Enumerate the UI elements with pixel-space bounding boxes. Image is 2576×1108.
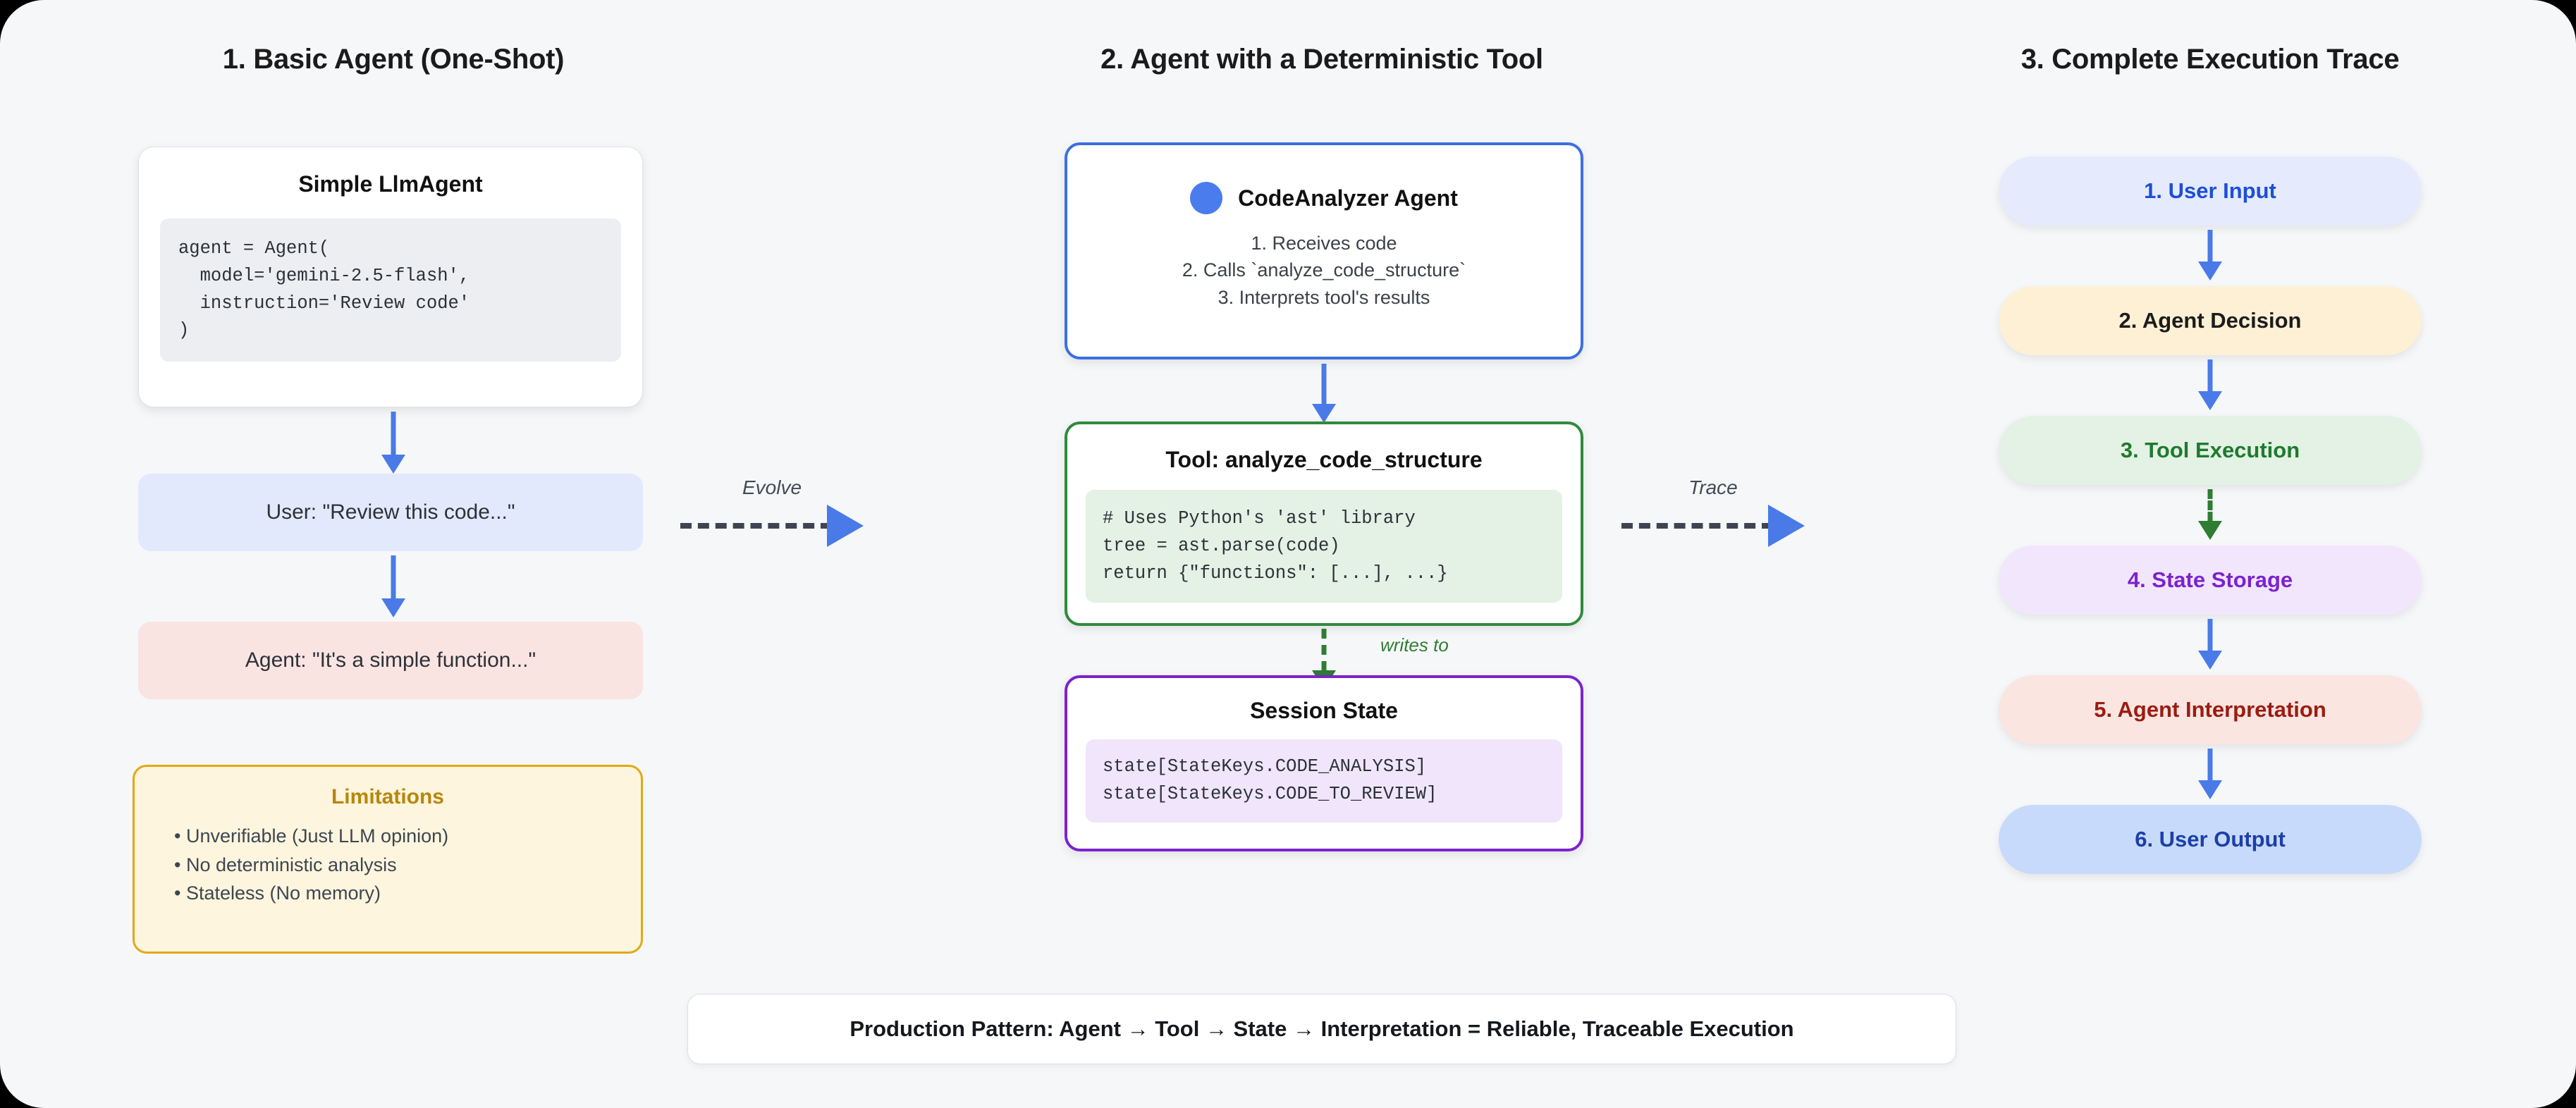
trace-step-5: 5. Agent Interpretation xyxy=(1999,675,2422,744)
agent-message-text: Agent: "It's a simple function..." xyxy=(245,648,536,672)
arrow-head xyxy=(381,455,405,474)
list-item: 2. Calls `analyze_code_structure` xyxy=(1067,257,1581,283)
arrow-shaft xyxy=(2208,230,2213,262)
arrow-agent-to-tool xyxy=(1310,364,1338,423)
session-state-code: state[StateKeys.CODE_ANALYSIS] state[Sta… xyxy=(1086,739,1562,823)
trace-step-6: 6. User Output xyxy=(1999,805,2422,874)
trace-step-2: 2. Agent Decision xyxy=(1999,286,2422,355)
writes-to-label: writes to xyxy=(1380,634,1449,656)
arrow-head xyxy=(2198,391,2222,410)
arrow-step4-to-step5 xyxy=(2196,619,2224,670)
tool-code: # Uses Python's 'ast' library tree = ast… xyxy=(1086,490,1562,603)
tool-card: Tool: analyze_code_structure # Uses Pyth… xyxy=(1065,421,1583,626)
arrow-head xyxy=(2198,651,2222,670)
arrow-head xyxy=(1768,505,1805,547)
arrow-shaft xyxy=(1621,523,1773,529)
limitations-box: Limitations • Unverifiable (Just LLM opi… xyxy=(133,765,643,954)
production-pattern-text: Production Pattern: Agent → Tool → State… xyxy=(850,1016,1793,1042)
arrow-step3-to-step4 xyxy=(2196,489,2224,540)
arrow-head xyxy=(2198,780,2222,799)
arrow-shaft xyxy=(680,523,832,529)
trace-step-label: 5. Agent Interpretation xyxy=(2094,697,2326,722)
evolve-label: Evolve xyxy=(680,476,864,499)
column-2-title: 2. Agent with a Deterministic Tool xyxy=(1043,44,1600,75)
codeanalyzer-agent-card: CodeAnalyzer Agent 1. Receives code 2. C… xyxy=(1065,142,1583,359)
list-item: 1. Receives code xyxy=(1067,230,1581,257)
column-3-title: 3. Complete Execution Trace xyxy=(1967,44,2453,75)
trace-step-1: 1. User Input xyxy=(1999,156,2422,226)
arrow-agent-to-user xyxy=(379,412,407,474)
codeanalyzer-header: CodeAnalyzer Agent xyxy=(1067,182,1581,214)
simple-llmagent-code: agent = Agent( model='gemini-2.5-flash',… xyxy=(160,218,621,362)
user-message-box: User: "Review this code..." xyxy=(138,474,643,551)
tool-title: Tool: analyze_code_structure xyxy=(1067,447,1581,473)
trace-step-3: 3. Tool Execution xyxy=(1999,416,2422,485)
arrow-shaft xyxy=(391,555,396,599)
arrow-shaft xyxy=(2208,489,2213,522)
user-message-text: User: "Review this code..." xyxy=(266,500,515,524)
arrow-head xyxy=(827,505,864,547)
arrow-user-to-agent xyxy=(379,555,407,617)
limitations-title: Limitations xyxy=(135,785,641,809)
agent-dot-icon xyxy=(1190,182,1222,214)
arrow-step5-to-step6 xyxy=(2196,749,2224,799)
production-pattern-banner: Production Pattern: Agent → Tool → State… xyxy=(687,994,1956,1064)
trace-connector: Trace xyxy=(1621,505,1805,547)
agent-message-box: Agent: "It's a simple function..." xyxy=(138,622,643,699)
arrow-head xyxy=(2198,521,2222,540)
arrow-head xyxy=(381,598,405,617)
arrow-head xyxy=(1312,404,1336,423)
arrow-shaft xyxy=(2208,749,2213,781)
trace-step-label: 2. Agent Decision xyxy=(2119,308,2302,333)
arrow-shaft xyxy=(1322,629,1327,671)
trace-step-label: 6. User Output xyxy=(2135,827,2286,852)
list-item: • Unverifiable (Just LLM opinion) xyxy=(174,822,641,851)
trace-step-label: 3. Tool Execution xyxy=(2121,438,2300,463)
trace-step-4: 4. State Storage xyxy=(1999,546,2422,615)
diagram-canvas: 1. Basic Agent (One-Shot) Simple LlmAgen… xyxy=(0,0,2576,1108)
column-1-title: 1. Basic Agent (One-Shot) xyxy=(138,44,649,75)
trace-step-label: 4. State Storage xyxy=(2128,567,2293,593)
arrow-shaft xyxy=(2208,359,2213,392)
session-state-title: Session State xyxy=(1067,698,1581,724)
arrow-step1-to-step2 xyxy=(2196,230,2224,281)
arrow-step2-to-step3 xyxy=(2196,359,2224,410)
arrow-shaft xyxy=(2208,619,2213,651)
evolve-connector: Evolve xyxy=(680,505,864,547)
limitations-list: • Unverifiable (Just LLM opinion) • No d… xyxy=(174,822,641,908)
list-item: 3. Interprets tool's results xyxy=(1067,284,1581,311)
list-item: • Stateless (No memory) xyxy=(174,879,641,908)
simple-llmagent-title: Simple LlmAgent xyxy=(139,171,642,197)
session-state-card: Session State state[StateKeys.CODE_ANALY… xyxy=(1065,675,1583,851)
codeanalyzer-title: CodeAnalyzer Agent xyxy=(1238,185,1458,211)
simple-llmagent-card: Simple LlmAgent agent = Agent( model='ge… xyxy=(138,147,643,407)
list-item: • No deterministic analysis xyxy=(174,851,641,880)
arrow-shaft xyxy=(391,412,396,455)
codeanalyzer-steps: 1. Receives code 2. Calls `analyze_code_… xyxy=(1067,230,1581,311)
arrow-head xyxy=(2198,261,2222,281)
trace-step-label: 1. User Input xyxy=(2144,178,2276,204)
trace-label: Trace xyxy=(1621,476,1805,499)
arrow-shaft xyxy=(1322,364,1327,405)
